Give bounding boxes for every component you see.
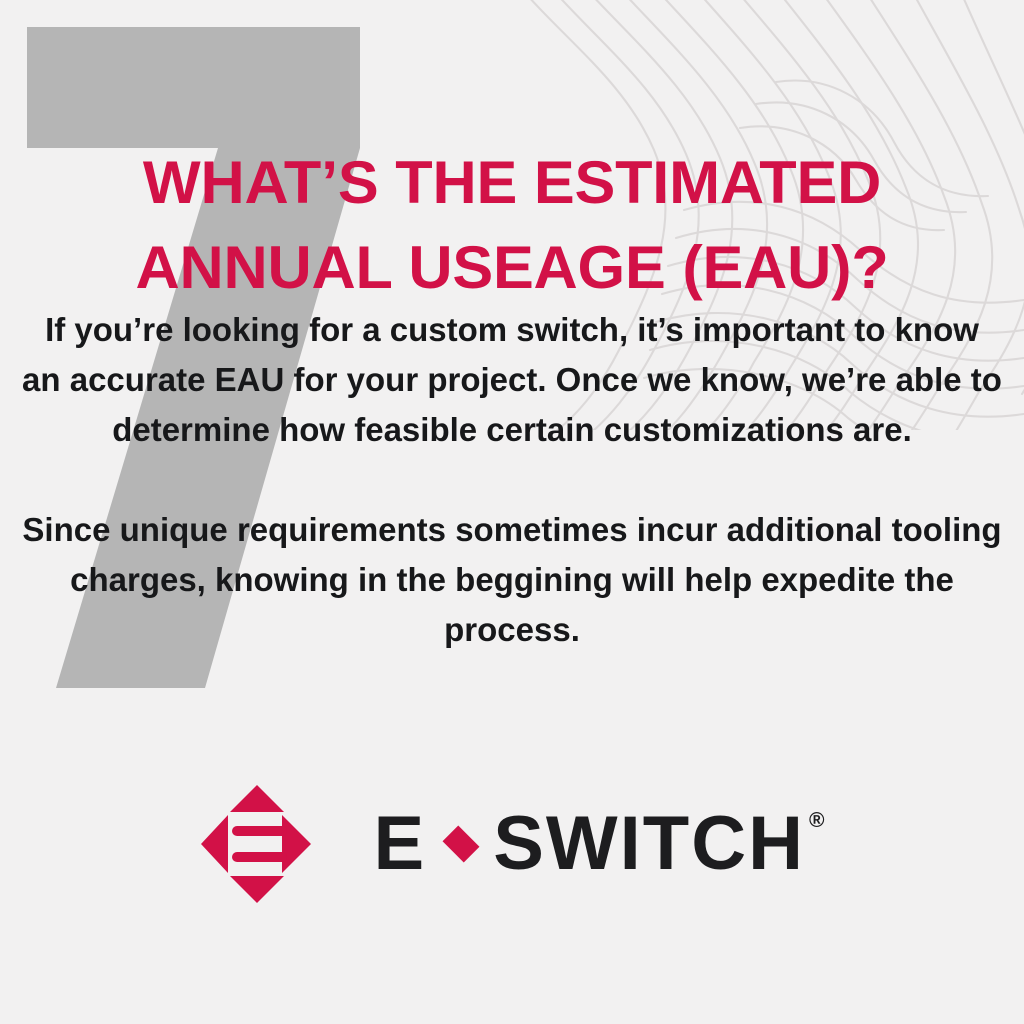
- poster-content: WHAT’S THE ESTIMATED ANNUAL USEAGE (EAU)…: [0, 0, 1024, 1024]
- body-paragraph-2: Since unique requirements sometimes incu…: [22, 505, 1002, 655]
- diamond-separator-icon: [443, 826, 480, 863]
- wordmark-letter-e: E: [374, 806, 427, 882]
- poster-canvas: WHAT’S THE ESTIMATED ANNUAL USEAGE (EAU)…: [0, 0, 1024, 1024]
- body-copy: If you’re looking for a custom switch, i…: [22, 305, 1002, 655]
- e-switch-diamond-arrows-icon: [198, 782, 316, 906]
- brand-logo-lockup: E SWITCH ®: [0, 782, 1024, 906]
- registered-trademark-icon: ®: [809, 810, 826, 831]
- e-switch-wordmark: E SWITCH ®: [374, 806, 827, 882]
- page-title: WHAT’S THE ESTIMATED ANNUAL USEAGE (EAU)…: [53, 140, 971, 310]
- wordmark-switch-text: SWITCH: [493, 806, 805, 882]
- body-paragraph-1: If you’re looking for a custom switch, i…: [22, 305, 1002, 455]
